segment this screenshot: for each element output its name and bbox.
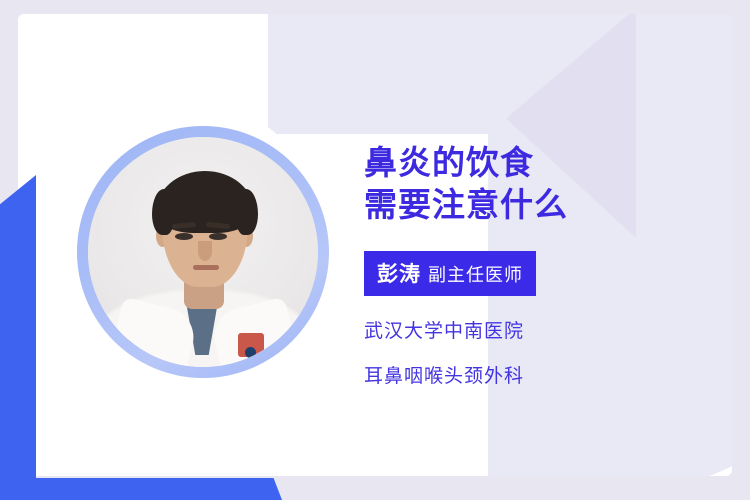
- content-card: 鼻炎的饮食 需要注意什么 彭涛副主任医师 武汉大学中南医院 耳鼻咽喉头颈外科: [18, 14, 732, 476]
- decor-accent-bar-bottom: [0, 478, 282, 500]
- doctor-badge: 彭涛副主任医师: [364, 251, 536, 296]
- photo-mouth: [193, 265, 219, 270]
- poster-canvas: 鼻炎的饮食 需要注意什么 彭涛副主任医师 武汉大学中南医院 耳鼻咽喉头颈外科: [0, 0, 750, 500]
- photo-eye-right: [209, 233, 227, 240]
- avatar: [77, 126, 329, 378]
- text-block: 鼻炎的饮食 需要注意什么 彭涛副主任医师 武汉大学中南医院 耳鼻咽喉头颈外科: [364, 142, 732, 388]
- avatar-photo: [88, 137, 318, 367]
- photo-coat-emblem-dot: [245, 347, 256, 358]
- page-title-line-2: 需要注意什么: [364, 184, 732, 226]
- page-title-line-1: 鼻炎的饮食: [364, 142, 732, 184]
- photo-eye-left: [175, 233, 193, 240]
- doctor-hospital: 武汉大学中南医院: [364, 320, 732, 343]
- doctor-rank: 副主任医师: [428, 265, 523, 286]
- photo-nose: [198, 241, 212, 261]
- doctor-department: 耳鼻咽喉头颈外科: [364, 365, 732, 388]
- photo-hair-left: [152, 189, 174, 235]
- photo-hair-right: [236, 189, 258, 235]
- decor-white-top-band: [18, 14, 268, 144]
- doctor-name: 彭涛: [377, 262, 421, 286]
- decor-accent-bar-left: [0, 175, 36, 500]
